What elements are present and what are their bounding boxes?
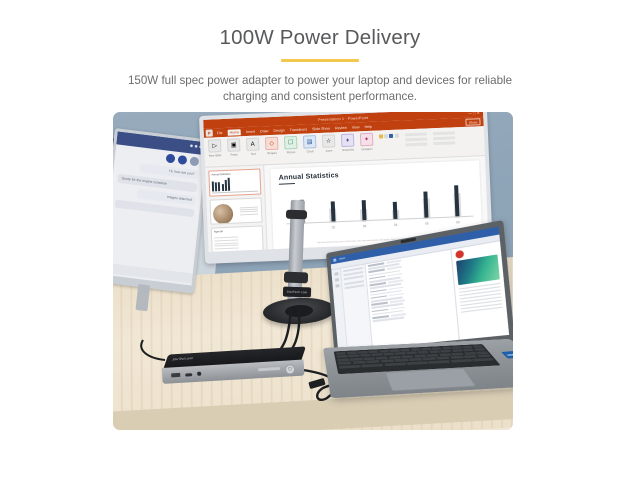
accent-divider bbox=[281, 59, 359, 62]
usb-c-port[interactable] bbox=[185, 373, 192, 376]
nav-icon[interactable] bbox=[335, 284, 339, 288]
laptop-base: intel bbox=[323, 339, 513, 398]
nav-icon[interactable] bbox=[334, 272, 338, 276]
email-body-text bbox=[458, 279, 502, 313]
dock-brand-label: StarTech.com bbox=[171, 356, 195, 361]
mail-titlebar-label: Inbox bbox=[339, 257, 345, 261]
audio-jack-port[interactable] bbox=[197, 372, 201, 376]
app-icon bbox=[333, 258, 336, 261]
nav-icon[interactable] bbox=[334, 278, 338, 282]
scene-photo: ●●● Hi, how are you? Quote for the engin… bbox=[113, 112, 513, 430]
laptop: Inbox bbox=[323, 252, 513, 430]
page-subtitle: 150W full spec power adapter to power yo… bbox=[120, 73, 520, 106]
mail-reading-pane[interactable] bbox=[451, 241, 509, 341]
product-feature-image: 100W Power Delivery 150W full spec power… bbox=[0, 0, 640, 480]
mail-message-list[interactable] bbox=[366, 250, 460, 350]
intel-badge: intel bbox=[501, 351, 513, 359]
sender-logo-icon bbox=[455, 250, 464, 259]
laptop-trackpad[interactable] bbox=[385, 368, 477, 391]
header: 100W Power Delivery 150W full spec power… bbox=[0, 0, 640, 106]
folder-item[interactable] bbox=[344, 284, 364, 289]
usb-a-port[interactable] bbox=[171, 373, 180, 378]
page-title: 100W Power Delivery bbox=[0, 0, 640, 50]
